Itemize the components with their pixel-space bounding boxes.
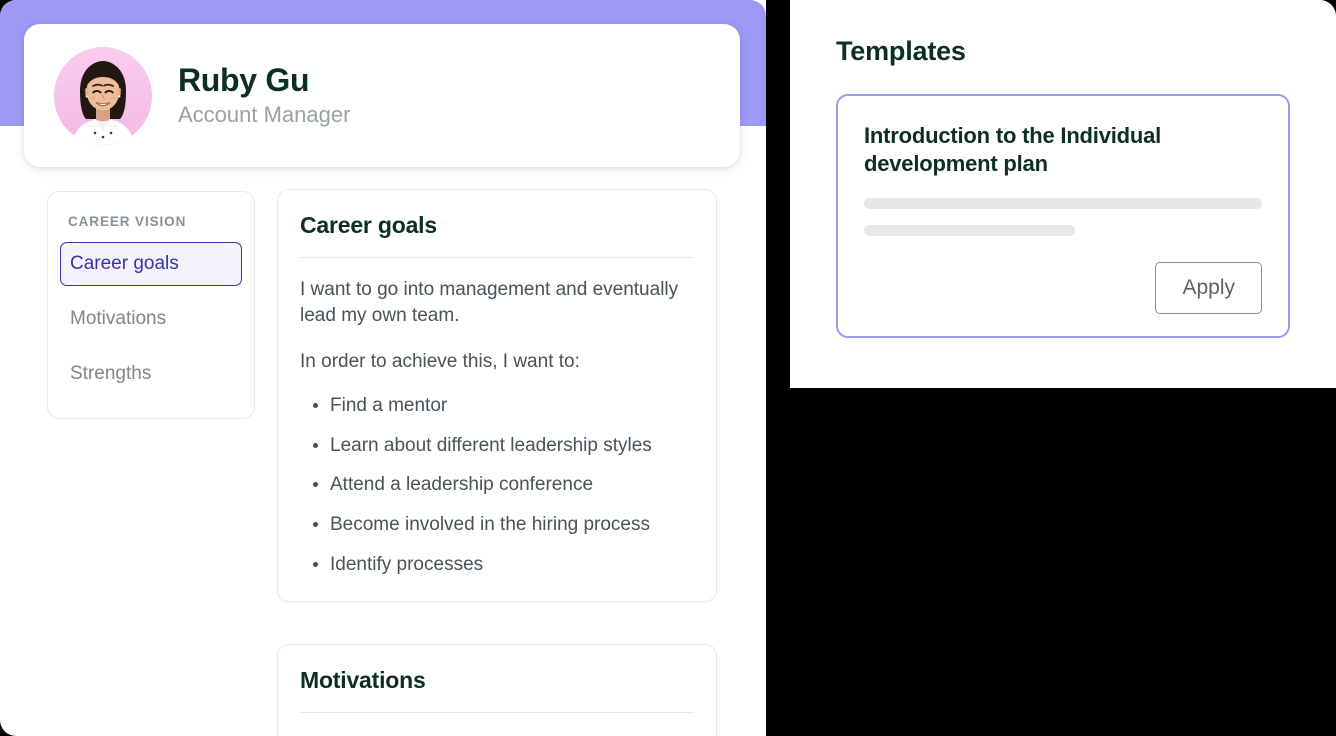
nav-heading: CAREER VISION [60, 214, 242, 229]
profile-card: Ruby Gu Account Manager [24, 24, 740, 167]
section-divider [300, 712, 694, 713]
sidebar-item-career-goals[interactable]: Career goals [60, 242, 242, 286]
template-actions: Apply [864, 262, 1262, 313]
sidebar-item-label: Motivations [70, 308, 166, 329]
template-placeholder-lines [864, 198, 1262, 236]
list-item: Identify processes [330, 553, 694, 578]
profile-name: Ruby Gu [178, 62, 350, 99]
list-item: Attend a leadership conference [330, 473, 694, 498]
sidebar-item-label: Strengths [70, 363, 151, 384]
content-column: Career goals I want to go into managemen… [277, 189, 717, 736]
profile-text: Ruby Gu Account Manager [178, 62, 350, 128]
section-paragraph: I want to go into management and eventua… [300, 277, 694, 329]
skeleton-line [864, 198, 1262, 209]
motivations-card: Motivations [277, 644, 717, 736]
left-panel: Ruby Gu Account Manager CAREER VISION Ca… [0, 0, 766, 736]
sidebar-item-strengths[interactable]: Strengths [60, 352, 242, 396]
template-card[interactable]: Introduction to the Individual developme… [836, 94, 1290, 338]
skeleton-line [864, 225, 1075, 236]
list-item: Find a mentor [330, 394, 694, 419]
career-goals-bullet-list: Find a mentor Learn about different lead… [300, 394, 694, 577]
section-title: Motivations [300, 667, 694, 694]
section-title: Career goals [300, 212, 694, 239]
list-item: Become involved in the hiring process [330, 513, 694, 538]
templates-title: Templates [836, 36, 1290, 67]
avatar [54, 47, 152, 145]
section-body-placeholder [300, 732, 694, 736]
screenshot-stage: Ruby Gu Account Manager CAREER VISION Ca… [0, 0, 1336, 736]
career-goals-card: Career goals I want to go into managemen… [277, 189, 717, 602]
profile-role: Account Manager [178, 102, 350, 128]
template-title: Introduction to the Individual developme… [864, 122, 1262, 178]
section-divider [300, 257, 694, 258]
templates-panel: Templates Introduction to the Individual… [790, 0, 1336, 388]
apply-button[interactable]: Apply [1155, 262, 1262, 313]
sidebar-item-motivations[interactable]: Motivations [60, 297, 242, 341]
section-paragraph: In order to achieve this, I want to: [300, 349, 694, 375]
career-vision-nav-card: CAREER VISION Career goals Motivations S… [47, 191, 255, 419]
list-item: Learn about different leadership styles [330, 434, 694, 459]
sidebar-item-label: Career goals [70, 253, 179, 274]
